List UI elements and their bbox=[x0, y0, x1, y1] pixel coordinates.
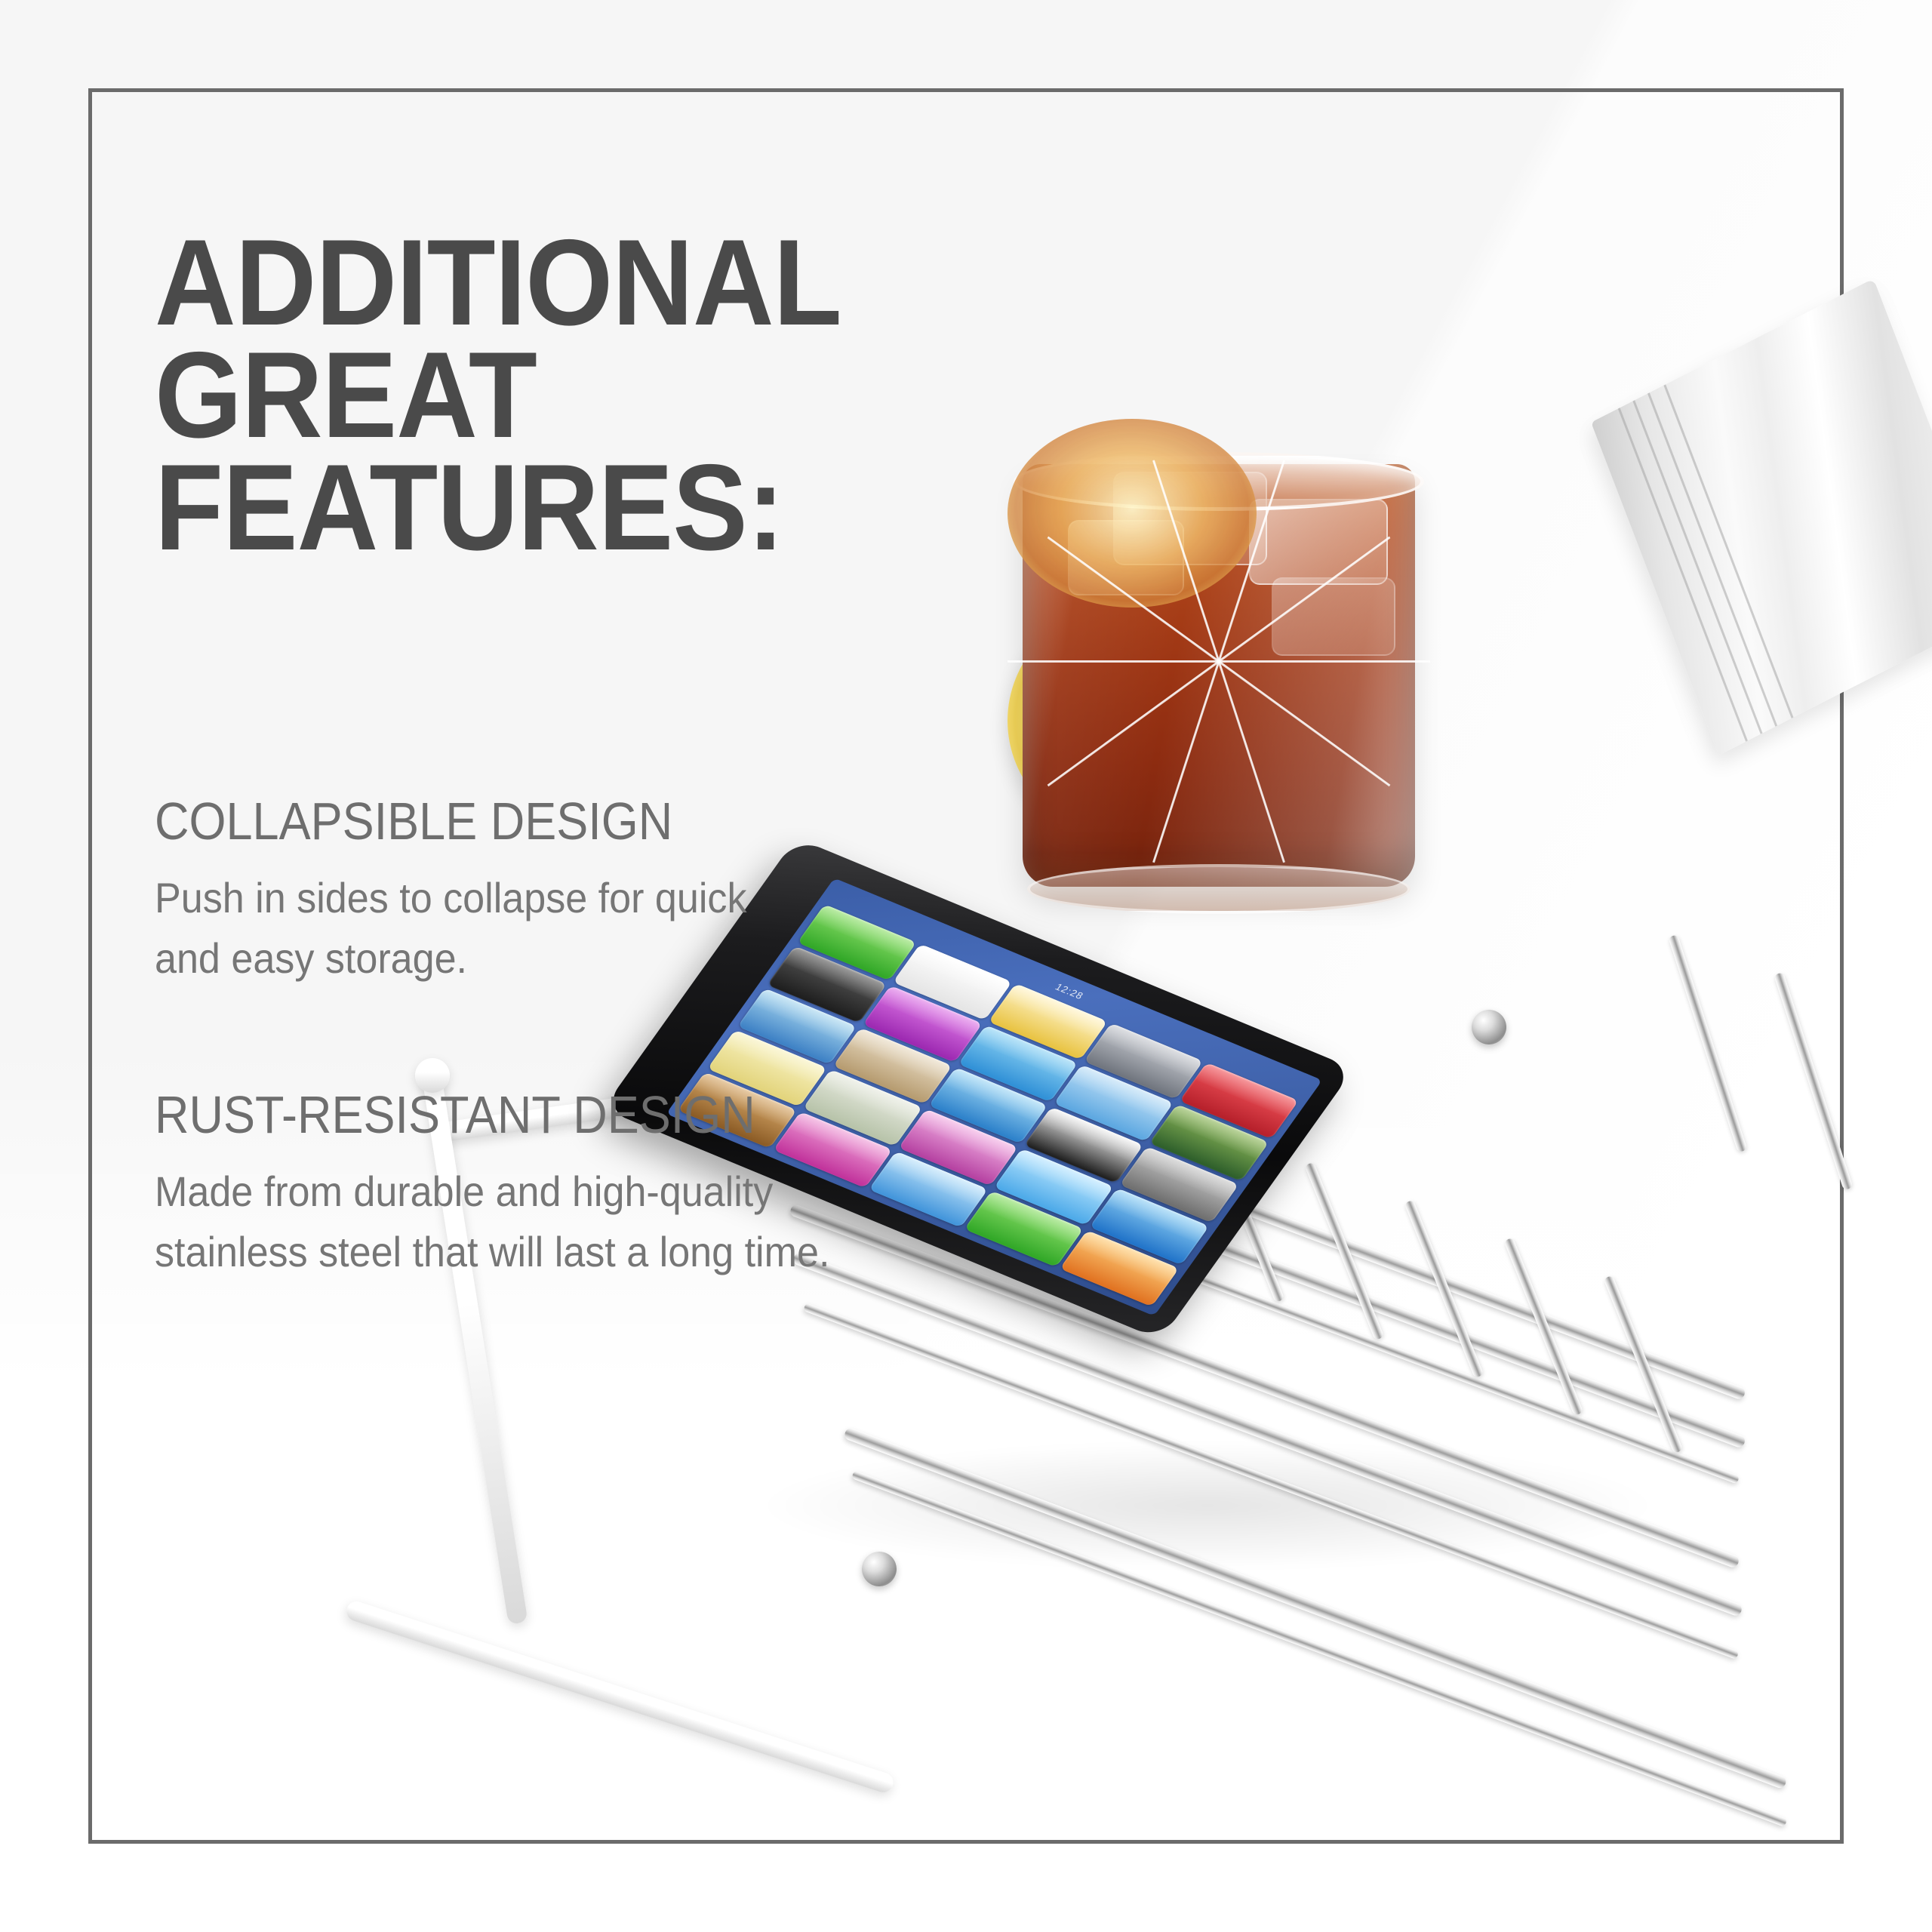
feature-title: COLLAPSIBLE DESIGN bbox=[155, 791, 848, 851]
page-title: ADDITIONAL GREAT FEATURES: bbox=[155, 226, 953, 564]
feature-body: Made from durable and high-quality stain… bbox=[155, 1161, 871, 1281]
feature-body: Push in sides to collapse for quick and … bbox=[155, 868, 871, 988]
product-feature-graphic: ADDITIONAL GREAT FEATURES: COLLAPSIBLE D… bbox=[0, 0, 1932, 1932]
feature-title: RUST-RESISTANT DESIGN bbox=[155, 1084, 848, 1145]
feature-item-rust-resistant-design: RUST-RESISTANT DESIGN Made from durable … bbox=[155, 1084, 924, 1281]
feature-list: COLLAPSIBLE DESIGN Push in sides to coll… bbox=[155, 791, 924, 1281]
feature-item-collapsible-design: COLLAPSIBLE DESIGN Push in sides to coll… bbox=[155, 791, 924, 988]
headline-block: ADDITIONAL GREAT FEATURES: bbox=[155, 226, 1023, 564]
